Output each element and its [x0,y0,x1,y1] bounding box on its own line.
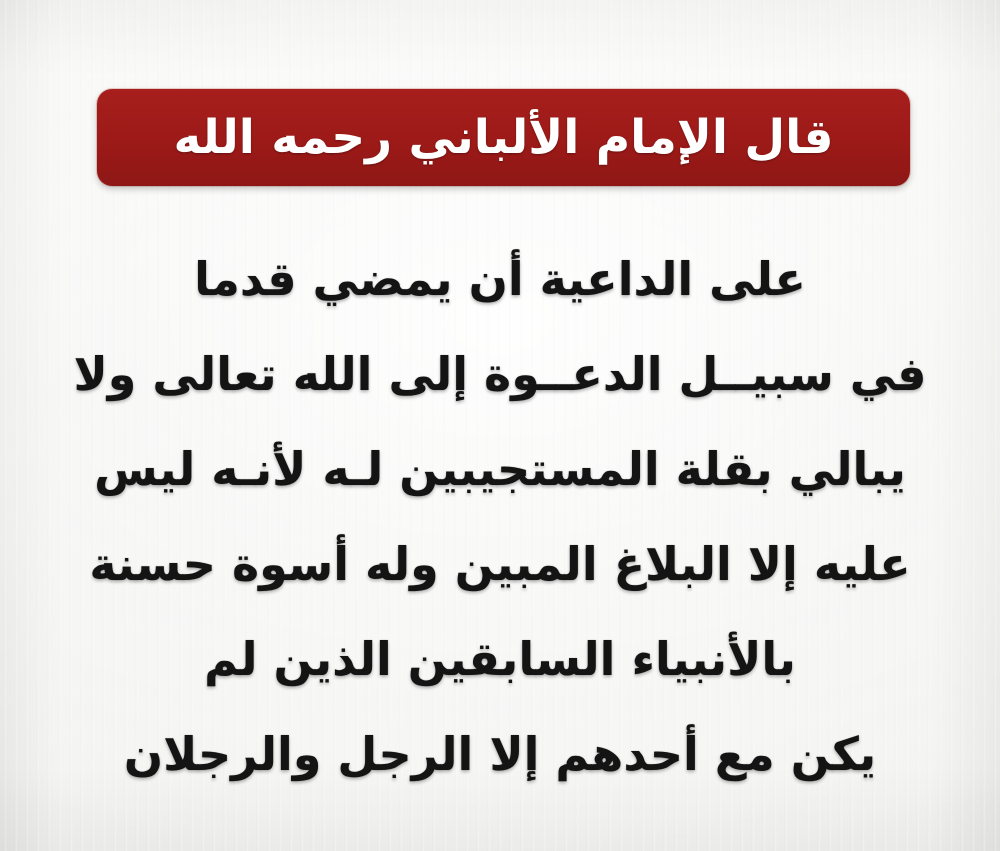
banner-title: قال الإمام الألباني رحمه الله [155,112,851,164]
quote-line: بالأنبياء السابقين الذين لم [204,612,796,707]
quote-line: عليه إلا البلاغ المبين وله أسوة حسنة [89,517,910,612]
quote-line: يبالي بقلة المستجيبين لـه لأنـه ليس [94,422,906,517]
quote-poster: قال الإمام الألباني رحمه الله على الداعي… [0,0,1000,851]
quote-attribution-banner: قال الإمام الألباني رحمه الله [97,89,910,186]
quote-line: في سبيــل الدعــوة إلى الله تعالى ولا [74,327,927,422]
quote-line: يكن مع أحدهم إلا الرجل والرجلان [124,707,876,802]
quote-body: على الداعية أن يمضي قدما في سبيــل الدعـ… [0,232,1000,802]
quote-line: على الداعية أن يمضي قدما [194,232,806,327]
